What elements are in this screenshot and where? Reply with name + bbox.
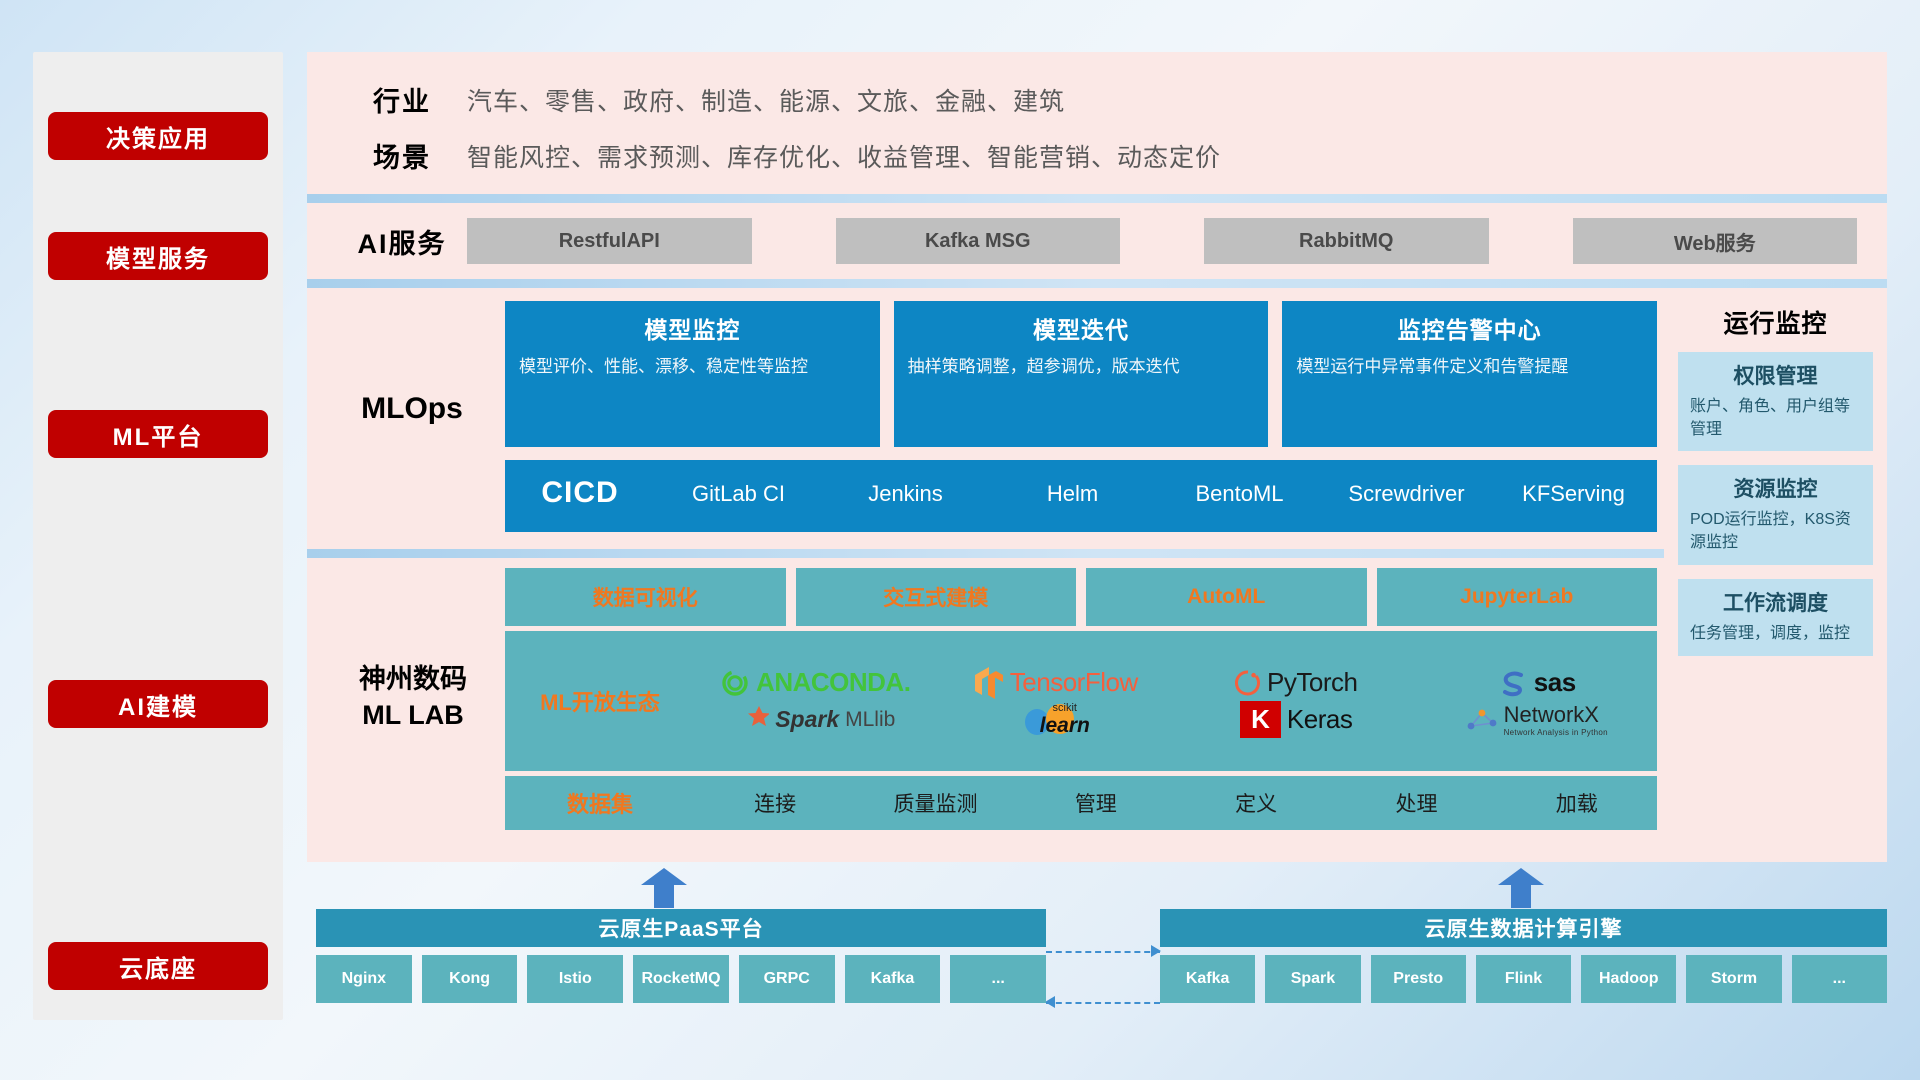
layer-rail <box>33 52 283 1020</box>
bidirectional-link <box>1046 940 1160 1020</box>
ml-lab-label-line1: 神州数码 <box>329 662 497 698</box>
ai-service-label: AI服务 <box>337 222 467 261</box>
networkx-mark-icon <box>1466 706 1498 734</box>
dataset-row: 数据集 连接 质量监测 管理 定义 处理 加载 <box>505 776 1657 830</box>
ml-ecosystem-label: ML开放生态 <box>505 685 695 717</box>
industry-value: 汽车、零售、政府、制造、能源、文旅、金融、建筑 <box>467 82 1065 118</box>
dataset-item[interactable]: 处理 <box>1336 788 1496 818</box>
ai-service-chip[interactable]: Web服务 <box>1573 218 1858 264</box>
decision-application-band: 行业 汽车、零售、政府、制造、能源、文旅、金融、建筑 场景 智能风控、需求预测、… <box>307 52 1887 194</box>
card-desc: 账户、角色、用户组等管理 <box>1690 396 1861 441</box>
mlops-band: MLOps 模型监控 模型评价、性能、漂移、稳定性等监控 模型迭代 抽样策略调整… <box>307 288 1887 549</box>
mlops-card-model-monitoring[interactable]: 模型监控 模型评价、性能、漂移、稳定性等监控 <box>505 301 880 447</box>
card-title: 模型监控 <box>519 311 866 345</box>
ai-service-chip-list: RestfulAPI Kafka MSG RabbitMQ Web服务 <box>467 218 1887 264</box>
sas-wordmark: sas <box>1534 667 1576 698</box>
mlops-card-list: 模型监控 模型评价、性能、漂移、稳定性等监控 模型迭代 抽样策略调整，超参调优，… <box>505 301 1657 447</box>
dataset-item[interactable]: 管理 <box>1016 788 1176 818</box>
layer-pill-cloud-base[interactable]: 云底座 <box>48 942 268 990</box>
ml-lab-tool-automl[interactable]: AutoML <box>1086 568 1367 626</box>
paas-chip[interactable]: Kong <box>422 955 518 1003</box>
paas-chip-list: Nginx Kong Istio RocketMQ GRPC Kafka ... <box>316 955 1046 1003</box>
paas-chip[interactable]: Istio <box>527 955 623 1003</box>
paas-platform-bar[interactable]: 云原生PaaS平台 <box>316 909 1046 947</box>
keras-wordmark: Keras <box>1287 704 1352 735</box>
dataset-item[interactable]: 定义 <box>1176 788 1336 818</box>
card-title: 资源监控 <box>1690 473 1861 503</box>
ml-lab-tool-jupyterlab[interactable]: JupyterLab <box>1377 568 1658 626</box>
dataset-item[interactable]: 连接 <box>695 788 855 818</box>
card-title: 工作流调度 <box>1690 587 1861 617</box>
data-engine-chip-list: Kafka Spark Presto Flink Hadoop Storm ..… <box>1160 955 1887 1003</box>
data-engine-chip[interactable]: Hadoop <box>1581 955 1676 1003</box>
cicd-title: CICD <box>505 460 655 510</box>
cicd-tool[interactable]: Helm <box>989 480 1156 508</box>
cicd-tool-list: GitLab CI Jenkins Helm BentoML Screwdriv… <box>655 460 1657 508</box>
ml-lab-tool-list: 数据可视化 交互式建模 AutoML JupyterLab <box>505 568 1657 626</box>
ai-service-chip[interactable]: Kafka MSG <box>836 218 1121 264</box>
cicd-tool[interactable]: KFServing <box>1490 480 1657 508</box>
dataset-item-list: 连接 质量监测 管理 定义 处理 加载 <box>695 788 1657 818</box>
card-desc: 任务管理，调度，监控 <box>1690 623 1861 646</box>
dataset-item[interactable]: 加载 <box>1497 788 1657 818</box>
card-title: 模型迭代 <box>908 311 1255 345</box>
upward-arrow-right <box>1498 868 1544 908</box>
band-separator-2 <box>307 279 1887 288</box>
paas-chip[interactable]: Kafka <box>845 955 941 1003</box>
networkx-wordmark: NetworkX <box>1504 702 1608 728</box>
paas-chip[interactable]: RocketMQ <box>633 955 729 1003</box>
pytorch-logo: PyTorch <box>1235 667 1357 698</box>
dataset-label: 数据集 <box>505 787 695 819</box>
scenario-label: 场景 <box>337 136 467 175</box>
card-title: 监控告警中心 <box>1296 311 1643 345</box>
data-engine-chip-more[interactable]: ... <box>1792 955 1887 1003</box>
networkx-logo: NetworkX Network Analysis in Python <box>1466 702 1608 737</box>
spark-star-icon <box>735 705 769 735</box>
scikit-wordmark: scikit <box>1040 702 1090 714</box>
data-engine-chip[interactable]: Storm <box>1686 955 1781 1003</box>
card-desc: 模型运行中异常事件定义和告警提醒 <box>1296 355 1643 380</box>
paas-chip[interactable]: Nginx <box>316 955 412 1003</box>
anaconda-logo: ANACONDA. <box>720 667 910 698</box>
sas-mark-icon <box>1498 668 1528 698</box>
layer-pill-ai-modeling[interactable]: AI建模 <box>48 680 268 728</box>
pytorch-mark-icon <box>1235 668 1261 698</box>
scenario-value: 智能风控、需求预测、库存优化、收益管理、智能营销、动态定价 <box>467 138 1221 174</box>
ml-lab-content: 数据可视化 交互式建模 AutoML JupyterLab ML开放生态 ANA… <box>505 568 1657 830</box>
ai-modeling-band: 神州数码 ML LAB 数据可视化 交互式建模 AutoML JupyterLa… <box>307 558 1887 862</box>
keras-logo: K Keras <box>1240 701 1352 738</box>
tensorflow-mark-icon <box>974 666 1004 700</box>
data-engine-chip[interactable]: Kafka <box>1160 955 1255 1003</box>
card-desc: 模型评价、性能、漂移、稳定性等监控 <box>519 355 866 380</box>
learn-wordmark: learn <box>1040 714 1090 738</box>
ml-lab-label-line2: ML LAB <box>329 698 497 734</box>
anaconda-wordmark: ANACONDA. <box>756 667 910 698</box>
ml-lab-label: 神州数码 ML LAB <box>329 662 497 733</box>
networkx-tagline: Network Analysis in Python <box>1504 728 1608 737</box>
sas-logo: sas <box>1498 667 1576 698</box>
cicd-bar: CICD GitLab CI Jenkins Helm BentoML Scre… <box>505 460 1657 532</box>
layer-pill-ml-platform[interactable]: ML平台 <box>48 410 268 458</box>
card-desc: 抽样策略调整，超参调优，版本迭代 <box>908 355 1255 380</box>
monitoring-title: 运行监控 <box>1664 288 1887 352</box>
keras-mark-icon: K <box>1240 701 1281 738</box>
spark-wordmark: Spark <box>775 706 839 733</box>
tensorflow-logo: TensorFlow <box>974 666 1138 700</box>
architecture-diagram: 决策应用 模型服务 ML平台 AI建模 云底座 行业 汽车、零售、政府、制造、能… <box>0 0 1920 1080</box>
monitoring-card-permissions[interactable]: 权限管理 账户、角色、用户组等管理 <box>1678 352 1873 451</box>
mlops-card-model-iteration[interactable]: 模型迭代 抽样策略调整，超参调优，版本迭代 <box>894 301 1269 447</box>
layer-pill-model-service[interactable]: 模型服务 <box>48 232 268 280</box>
data-engine-chip[interactable]: Spark <box>1265 955 1360 1003</box>
monitoring-column: 运行监控 权限管理 账户、角色、用户组等管理 资源监控 POD运行监控，K8S资… <box>1664 288 1887 862</box>
band-separator-1 <box>307 194 1887 203</box>
ml-ecosystem-row: ML开放生态 ANACONDA. <box>505 631 1657 771</box>
layer-pill-decision[interactable]: 决策应用 <box>48 112 268 160</box>
ai-service-chip[interactable]: RabbitMQ <box>1204 218 1489 264</box>
industry-label: 行业 <box>337 80 467 119</box>
ai-service-band: AI服务 RestfulAPI Kafka MSG RabbitMQ Web服务 <box>307 203 1887 279</box>
cicd-tool[interactable]: BentoML <box>1156 480 1323 508</box>
data-engine-chip[interactable]: Presto <box>1371 955 1466 1003</box>
ml-ecosystem-logo-grid: ANACONDA. TensorFlow <box>695 664 1657 738</box>
mlops-label: MLOps <box>337 392 487 426</box>
dataset-item[interactable]: 质量监测 <box>855 788 1015 818</box>
spark-mllib-logo: Spark MLlib <box>735 705 895 735</box>
paas-chip-more[interactable]: ... <box>950 955 1046 1003</box>
monitoring-card-resources[interactable]: 资源监控 POD运行监控，K8S资源监控 <box>1678 465 1873 564</box>
ai-service-chip[interactable]: RestfulAPI <box>467 218 752 264</box>
data-engine-bar[interactable]: 云原生数据计算引擎 <box>1160 909 1887 947</box>
band-separator-3 <box>307 549 1887 558</box>
industry-row: 行业 汽车、零售、政府、制造、能源、文旅、金融、建筑 <box>307 80 1887 119</box>
ml-lab-tool-interactive-modeling[interactable]: 交互式建模 <box>796 568 1077 626</box>
ml-lab-tool-data-visualization[interactable]: 数据可视化 <box>505 568 786 626</box>
scikit-learn-logo: scikit learn <box>1022 702 1090 738</box>
paas-chip[interactable]: GRPC <box>739 955 835 1003</box>
scenario-row: 场景 智能风控、需求预测、库存优化、收益管理、智能营销、动态定价 <box>307 136 1887 175</box>
card-desc: POD运行监控，K8S资源监控 <box>1690 509 1861 554</box>
mllib-wordmark: MLlib <box>845 708 895 732</box>
data-engine-chip[interactable]: Flink <box>1476 955 1571 1003</box>
card-title: 权限管理 <box>1690 360 1861 390</box>
upward-arrow-left <box>641 868 687 908</box>
monitoring-card-workflow[interactable]: 工作流调度 任务管理，调度，监控 <box>1678 579 1873 656</box>
pytorch-wordmark: PyTorch <box>1267 667 1357 698</box>
cicd-tool[interactable]: Jenkins <box>822 480 989 508</box>
mlops-card-alert-center[interactable]: 监控告警中心 模型运行中异常事件定义和告警提醒 <box>1282 301 1657 447</box>
anaconda-mark-icon <box>720 668 750 698</box>
tensorflow-wordmark: TensorFlow <box>1010 667 1138 698</box>
cicd-tool[interactable]: GitLab CI <box>655 480 822 508</box>
cicd-tool[interactable]: Screwdriver <box>1323 480 1490 508</box>
